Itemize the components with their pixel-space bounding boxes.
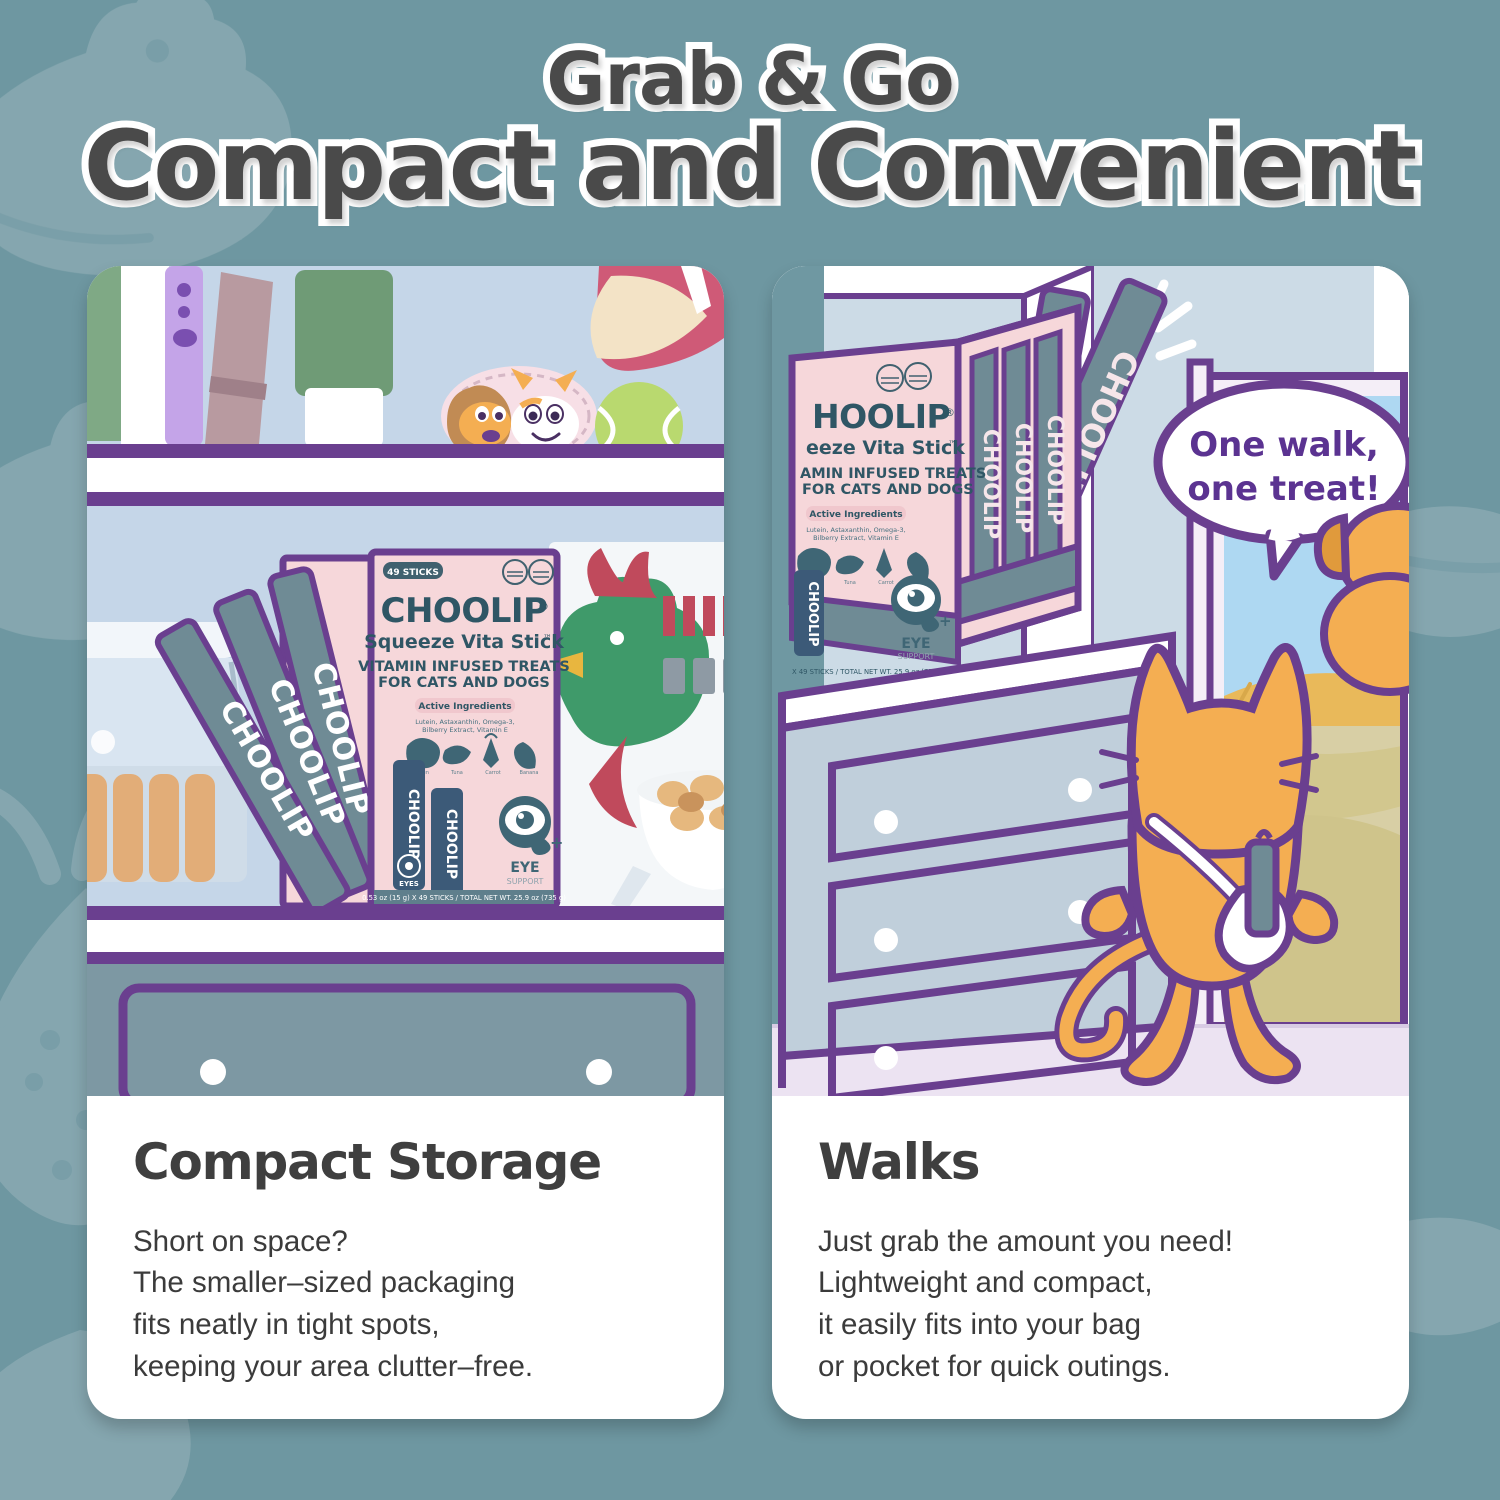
svg-text:Carrot: Carrot xyxy=(878,580,894,586)
title-line-2: Compact and Convenient xyxy=(0,119,1500,213)
svg-text:AMIN INFUSED TREATS: AMIN INFUSED TREATS xyxy=(800,466,986,482)
svg-text:Active Ingredients: Active Ingredients xyxy=(809,510,902,520)
breadsticks-tray xyxy=(87,766,247,882)
card-line: it easily fits into your bag xyxy=(818,1304,1363,1346)
svg-text:+: + xyxy=(939,612,952,630)
speech-line-2: one treat! xyxy=(1187,469,1380,509)
page-title: Grab & Go Compact and Convenient xyxy=(0,44,1500,213)
card-heading-walks: Walks xyxy=(818,1136,1363,1189)
feature-card-walks: CHOOLIP CHOOLIP CHOOLIP xyxy=(772,266,1409,1419)
svg-text:SUPPORT: SUPPORT xyxy=(898,652,935,661)
card-line: Short on space? xyxy=(133,1221,678,1263)
svg-text:FOR CATS AND DOGS: FOR CATS AND DOGS xyxy=(802,482,974,498)
svg-text:CHOOLIP: CHOOLIP xyxy=(978,429,1003,539)
speech-line-1: One walk, xyxy=(1189,425,1379,465)
svg-text:Banana: Banana xyxy=(520,770,539,776)
title-line-1: Grab & Go xyxy=(0,44,1500,115)
svg-text:Carrot: Carrot xyxy=(485,770,501,776)
svg-text:FOR CATS AND DOGS: FOR CATS AND DOGS xyxy=(378,675,550,691)
svg-text:VITAMIN INFUSED TREATS: VITAMIN INFUSED TREATS xyxy=(358,659,570,675)
svg-text:CHOOLIP: CHOOLIP xyxy=(1010,423,1035,533)
svg-text:eeze Vita Stick: eeze Vita Stick xyxy=(806,437,965,459)
illustration-entryway-walk: CHOOLIP CHOOLIP CHOOLIP xyxy=(772,266,1409,1096)
svg-text:CHOOLIP: CHOOLIP xyxy=(805,581,820,646)
card-line: Lightweight and compact, xyxy=(818,1262,1363,1304)
card-text-compact-storage: Short on space? The smaller–sized packag… xyxy=(133,1221,678,1389)
feature-card-compact-storage: CHOOLIP CHOOLIP CHOOLIP xyxy=(87,266,724,1419)
card-body-compact-storage: Compact Storage Short on space? The smal… xyxy=(87,1096,724,1388)
drawer xyxy=(87,964,724,1096)
card-body-walks: Walks Just grab the amount you need! Lig… xyxy=(772,1096,1409,1388)
svg-text:Squeeze Vita Stick: Squeeze Vita Stick xyxy=(364,631,564,653)
svg-text:EYE: EYE xyxy=(510,860,539,876)
svg-text:CHOOLIP: CHOOLIP xyxy=(1042,415,1067,525)
svg-text:Lutein, Astaxanthin, Omega-3,: Lutein, Astaxanthin, Omega-3, xyxy=(806,526,905,534)
svg-text:EYES: EYES xyxy=(399,880,419,888)
svg-text:CHOOLIP: CHOOLIP xyxy=(443,809,459,879)
svg-text:0.53 oz (15 g) X 49 STICKS / T: 0.53 oz (15 g) X 49 STICKS / TOTAL NET W… xyxy=(362,894,566,902)
card-heading-compact-storage: Compact Storage xyxy=(133,1136,678,1189)
svg-text:Bilberry Extract, Vitamin E: Bilberry Extract, Vitamin E xyxy=(422,726,508,734)
card-line: keeping your area clutter–free. xyxy=(133,1346,678,1388)
svg-text:Tuna: Tuna xyxy=(450,770,463,776)
svg-text:49 STICKS: 49 STICKS xyxy=(387,568,439,578)
card-text-walks: Just grab the amount you need! Lightweig… xyxy=(818,1221,1363,1389)
card-line: fits neatly in tight spots, xyxy=(133,1304,678,1346)
illustration-cupboard-shelf: CHOOLIP CHOOLIP CHOOLIP xyxy=(87,266,724,1096)
svg-text:Bilberry Extract, Vitamin E: Bilberry Extract, Vitamin E xyxy=(813,534,899,542)
card-line: or pocket for quick outings. xyxy=(818,1346,1363,1388)
svg-text:Lutein, Astaxanthin, Omega-3,: Lutein, Astaxanthin, Omega-3, xyxy=(415,718,514,726)
svg-text:EYE: EYE xyxy=(901,636,930,652)
svg-text:™: ™ xyxy=(543,634,552,644)
svg-text:SUPPORT: SUPPORT xyxy=(507,877,544,886)
svg-text:HOOLIP: HOOLIP xyxy=(812,397,950,436)
svg-text:Active Ingredients: Active Ingredients xyxy=(418,702,511,712)
svg-text:®: ® xyxy=(944,406,955,419)
svg-text:®: ® xyxy=(538,600,549,613)
svg-text:CHOOLIP: CHOOLIP xyxy=(405,789,421,859)
svg-text:Tuna: Tuna xyxy=(843,580,856,586)
card-line: The smaller–sized packaging xyxy=(133,1262,678,1304)
svg-text:™: ™ xyxy=(948,440,957,450)
svg-text:+: + xyxy=(550,833,563,852)
svg-text:CHOOLIP: CHOOLIP xyxy=(381,591,548,631)
card-line: Just grab the amount you need! xyxy=(818,1221,1363,1263)
